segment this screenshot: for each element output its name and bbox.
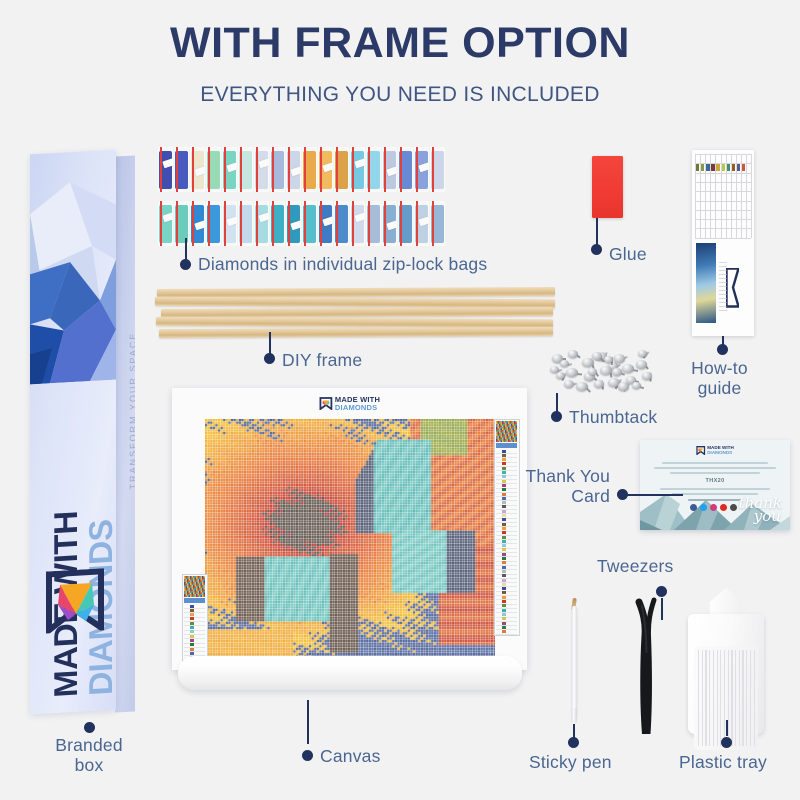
thank-you-card-graphic: MADE WITH DIAMONDS THX20 thank you <box>640 440 790 530</box>
card-thankyou-script: thank you <box>739 497 782 522</box>
youtube-icon <box>730 504 737 511</box>
callout-label-thankyou: Thank You Card <box>500 466 610 506</box>
canvas-color-legend-right <box>494 419 520 636</box>
page-subtitle: EVERYTHING YOU NEED IS INCLUDED <box>0 83 800 107</box>
guide-logo-icon <box>726 268 739 308</box>
callout-line-thankyou <box>627 494 683 496</box>
pen-cap <box>571 708 577 724</box>
callout-label-pen: Sticky pen <box>529 752 612 773</box>
callout-label-tweezers: Tweezers <box>597 556 674 577</box>
thumbtack-graphic <box>548 348 658 396</box>
callout-dot-thankyou <box>617 489 628 500</box>
canvas-sheet: MADE WITH DIAMONDS <box>172 388 527 670</box>
callout-line-tweezers <box>661 598 663 620</box>
callout-dot-branded-box <box>84 722 95 733</box>
how-to-guide-graphic <box>692 150 754 336</box>
tweezers-graphic <box>630 592 662 734</box>
card-logo-line2: DIAMONDS <box>707 451 734 456</box>
box-side-text: TRANSFORM YOUR SPACE <box>128 330 135 491</box>
callout-label-thumbtack: Thumbtack <box>569 407 657 428</box>
instagram-icon <box>710 504 717 511</box>
canvas-graphic: MADE WITH DIAMONDS <box>172 388 527 678</box>
guide-subtext <box>719 262 727 314</box>
callout-line-tray <box>726 720 728 736</box>
canvas-logo-line2: DIAMONDS <box>335 404 380 412</box>
twitter-icon <box>700 504 707 511</box>
callout-label-glue: Glue <box>609 244 647 265</box>
canvas-artwork <box>205 419 495 661</box>
canvas-roll <box>178 656 522 690</box>
callout-label-canvas: Canvas <box>320 746 381 767</box>
sticky-pen-graphic <box>570 596 578 724</box>
card-coupon-code: THX20 <box>705 478 724 484</box>
callout-line-glue <box>596 218 598 247</box>
diamond-bag-row-bottom <box>158 201 446 246</box>
thankyou-label-line2: Card <box>571 486 610 506</box>
callout-dot-tweezers <box>656 586 667 597</box>
diamond-prism-logo-icon <box>46 568 104 633</box>
card-logo-icon <box>696 446 705 455</box>
callout-label-guide: How-to guide <box>663 358 776 398</box>
callout-dot-guide <box>717 344 728 355</box>
callout-label-frame: DIY frame <box>282 350 362 371</box>
low-poly-pattern <box>30 150 116 385</box>
card-logo: MADE WITH DIAMONDS <box>696 446 734 456</box>
card-text-line <box>670 472 760 474</box>
card-logo-text: MADE WITH DIAMONDS <box>707 446 734 456</box>
thankyou-label-line1: Thank You <box>525 466 610 486</box>
card-text-line <box>662 462 768 464</box>
canvas-logo: MADE WITH DIAMONDS <box>319 396 380 411</box>
diamond-bag-row-top <box>158 147 446 192</box>
card-text-line <box>660 488 770 490</box>
infographic-canvas: WITH FRAME OPTION EVERYTHING YOU NEED IS… <box>0 0 800 800</box>
branded-box-label-line1: Branded <box>55 735 123 755</box>
guide-color-table <box>695 154 751 238</box>
pinterest-icon <box>720 504 727 511</box>
box-side-panel: TRANSFORM YOUR SPACE <box>115 155 135 712</box>
facebook-icon <box>690 504 697 511</box>
callout-line-canvas <box>307 700 309 744</box>
callout-dot-glue <box>591 244 602 255</box>
page-title: WITH FRAME OPTION <box>0 22 800 65</box>
callout-dot-diamonds <box>180 259 191 270</box>
diamond-bags-graphic <box>158 147 446 247</box>
callout-dot-canvas <box>302 750 313 761</box>
branded-box-label-line2: box <box>75 755 104 775</box>
callout-dot-frame <box>264 353 275 364</box>
callout-dot-tray <box>721 737 732 748</box>
callout-label-diamonds: Diamonds in individual zip-lock bags <box>198 254 487 275</box>
card-text-line <box>654 467 776 469</box>
box-front-panel: MADE WITH DIAMONDS <box>30 150 116 715</box>
canvas-logo-icon <box>319 397 332 410</box>
callout-label-branded-box: Branded box <box>29 735 149 775</box>
tray-body <box>688 614 764 734</box>
guide-label-line2: guide <box>698 378 742 398</box>
canvas-logo-text: MADE WITH DIAMONDS <box>335 396 380 411</box>
tweezers-shape <box>630 592 662 734</box>
guide-label-line1: How-to <box>691 358 748 378</box>
branded-box-graphic: TRANSFORM YOUR SPACE MADE WITH DIAMONDS <box>30 152 138 718</box>
callout-label-tray: Plastic tray <box>679 752 767 773</box>
callout-dot-pen <box>568 737 579 748</box>
plastic-tray-graphic <box>688 588 764 734</box>
canvas-color-legend-left <box>182 574 208 664</box>
diy-frame-graphic <box>155 288 555 348</box>
pen-body <box>572 606 577 718</box>
callout-dot-thumbtack <box>551 411 562 422</box>
glue-graphic <box>592 156 623 218</box>
guide-cover-photo <box>696 243 716 323</box>
callout-line-pen <box>573 724 575 738</box>
